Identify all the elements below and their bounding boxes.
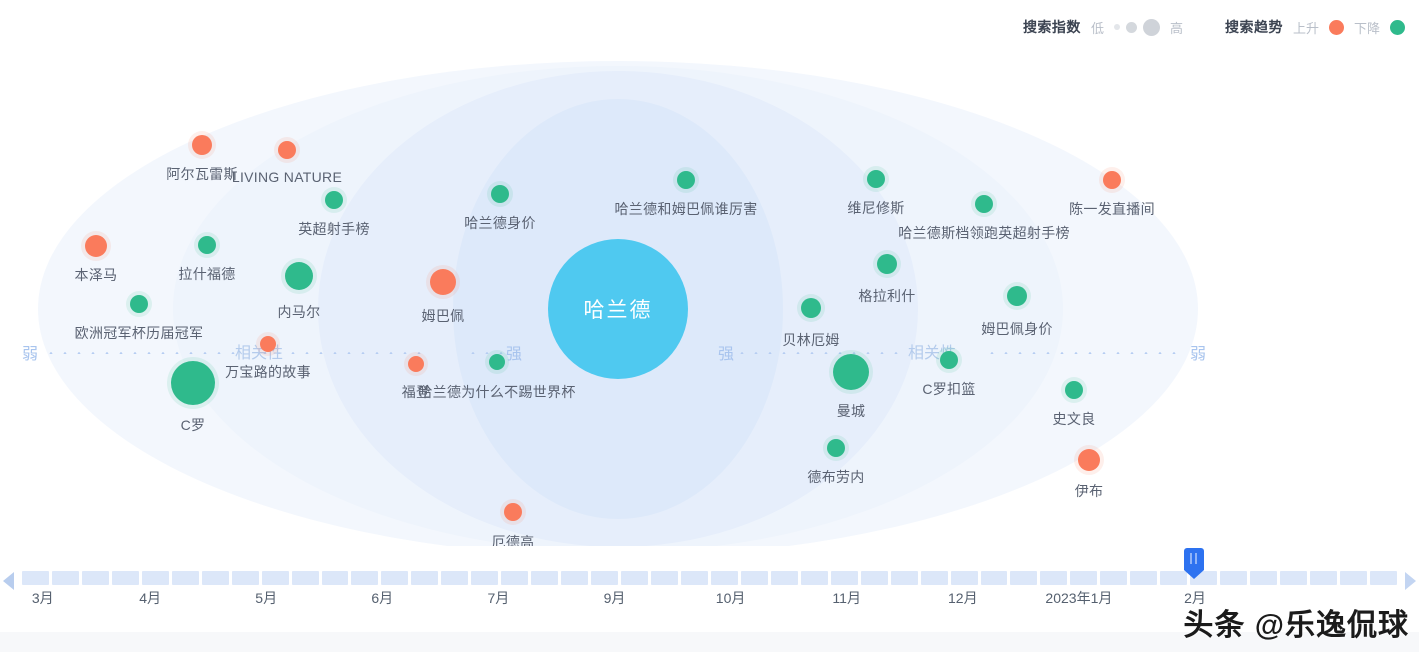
timeline-handle-grip-icon: [1184, 553, 1204, 564]
timeline-cell[interactable]: [1370, 571, 1397, 585]
legend-index-title: 搜索指数: [1023, 17, 1081, 37]
axis-line-left-b: [258, 352, 426, 354]
graph-node[interactable]: [827, 439, 845, 457]
timeline-cell[interactable]: [771, 571, 798, 585]
graph-node-label: 格拉利什: [858, 286, 915, 306]
timeline-label: 10月: [716, 588, 746, 608]
graph-node-label: 英超射手榜: [298, 219, 370, 239]
timeline-label: 6月: [371, 588, 393, 608]
graph-node[interactable]: [198, 236, 216, 254]
legend-size-dot-small: [1114, 24, 1120, 30]
timeline-cell[interactable]: [921, 571, 948, 585]
relevance-axis: 弱 相关性 强 强 相关性 弱: [0, 352, 1419, 353]
timeline-cell[interactable]: [471, 571, 498, 585]
timeline-label: 2023年1月: [1045, 588, 1112, 608]
timeline-cell[interactable]: [262, 571, 289, 585]
axis-line-right-a: [735, 352, 905, 354]
legend-trend-up-label: 上升: [1293, 18, 1319, 37]
graph-node-label: 陈一发直播间: [1069, 199, 1155, 219]
graph-node-label: 姆巴佩: [422, 306, 465, 326]
graph-node-label: 哈兰德身价: [464, 213, 536, 233]
graph-node[interactable]: [489, 354, 505, 370]
timeline-cell[interactable]: [22, 571, 49, 585]
timeline-cell[interactable]: [82, 571, 109, 585]
graph-node-label: 史文良: [1053, 409, 1096, 429]
relation-graph-plot: 弱 相关性 强 强 相关性 弱 哈兰德 阿尔瓦雷斯LIVING NATURE英超…: [0, 56, 1419, 546]
timeline-cell[interactable]: [411, 571, 438, 585]
graph-node-label: 贝林厄姆: [782, 330, 839, 350]
graph-node[interactable]: [1007, 286, 1027, 306]
axis-label-left-strong: 强: [506, 340, 522, 364]
timeline-cell[interactable]: [621, 571, 648, 585]
graph-node-label: 万宝路的故事: [225, 362, 311, 382]
timeline-handle-body: [1184, 548, 1204, 570]
graph-node[interactable]: [877, 254, 897, 274]
center-node-label: 哈兰德: [584, 294, 653, 324]
timeline-cell[interactable]: [981, 571, 1008, 585]
timeline-cell[interactable]: [531, 571, 558, 585]
timeline-cell[interactable]: [891, 571, 918, 585]
timeline-label: 12月: [948, 588, 978, 608]
graph-node[interactable]: [285, 262, 313, 290]
timeline-cell[interactable]: [1220, 571, 1247, 585]
graph-node-label: 哈兰德为什么不踢世界杯: [418, 382, 575, 402]
graph-node[interactable]: [1065, 381, 1083, 399]
timeline-cell[interactable]: [951, 571, 978, 585]
graph-node-label: 本泽马: [75, 265, 118, 285]
graph-node-label: 伊布: [1075, 481, 1104, 501]
timeline-label: 11月: [832, 588, 861, 608]
graph-node[interactable]: [677, 171, 695, 189]
timeline-cell[interactable]: [351, 571, 378, 585]
timeline-cell[interactable]: [1280, 571, 1307, 585]
graph-node-label: 维尼修斯: [847, 198, 904, 218]
graph-node[interactable]: [408, 356, 424, 372]
legend-trend-up-swatch: [1329, 20, 1344, 35]
timeline-handle[interactable]: [1184, 548, 1204, 578]
timeline-label: 4月: [139, 588, 161, 608]
graph-node[interactable]: [85, 235, 107, 257]
axis-label-left-weak: 弱: [22, 340, 38, 364]
legend-trend-down-label: 下降: [1354, 18, 1380, 37]
graph-node[interactable]: [491, 185, 509, 203]
graph-node-label: C罗扣篮: [922, 379, 975, 399]
graph-node[interactable]: [130, 295, 148, 313]
graph-node[interactable]: [1078, 449, 1100, 471]
graph-node-label: LIVING NATURE: [232, 169, 342, 185]
legend-trend-title: 搜索趋势: [1225, 17, 1283, 37]
timeline-cell[interactable]: [681, 571, 708, 585]
graph-node[interactable]: [975, 195, 993, 213]
timeline-cell[interactable]: [292, 571, 319, 585]
legend-size-scale: [1114, 19, 1160, 36]
timeline-cell[interactable]: [52, 571, 79, 585]
timeline-label: 7月: [487, 588, 509, 608]
axis-line-left-a: [44, 352, 244, 354]
legend-index-high-label: 高: [1170, 18, 1183, 37]
graph-node-label: 内马尔: [278, 302, 321, 322]
graph-node-label: 姆巴佩身价: [981, 319, 1053, 339]
graph-node-label: 哈兰德和姆巴佩谁厉害: [615, 199, 758, 219]
timeline-cell[interactable]: [232, 571, 259, 585]
graph-node[interactable]: [1103, 171, 1121, 189]
timeline-cell[interactable]: [172, 571, 199, 585]
graph-node[interactable]: [504, 503, 522, 521]
graph-node[interactable]: [192, 135, 212, 155]
axis-line-right-b: [985, 352, 1185, 354]
timeline-cell[interactable]: [142, 571, 169, 585]
chart-legend: 搜索指数 低 高 搜索趋势 上升 下降: [1023, 14, 1405, 40]
legend-size-dot-large: [1143, 19, 1160, 36]
timeline-label: 3月: [32, 588, 54, 608]
graph-node-label: 厄德高: [492, 532, 535, 546]
graph-node-label: C罗: [181, 415, 206, 435]
timeline-cell[interactable]: [112, 571, 139, 585]
timeline-cell[interactable]: [1130, 571, 1157, 585]
timeline-cell[interactable]: [1310, 571, 1337, 585]
graph-node[interactable]: [278, 141, 296, 159]
timeline-cell[interactable]: [381, 571, 408, 585]
timeline-cell[interactable]: [441, 571, 468, 585]
graph-node[interactable]: [260, 336, 276, 352]
timeline-cell[interactable]: [591, 571, 618, 585]
graph-node-label: 欧洲冠军杯历届冠军: [75, 323, 204, 343]
concentric-rings-background: [0, 56, 1419, 546]
timeline-cell[interactable]: [501, 571, 528, 585]
timeline-cell[interactable]: [1250, 571, 1277, 585]
graph-node[interactable]: [867, 170, 885, 188]
graph-node-label: 德布劳内: [807, 467, 864, 487]
timeline-label: 5月: [255, 588, 277, 608]
timeline-cell[interactable]: [801, 571, 828, 585]
graph-node[interactable]: [940, 351, 958, 369]
timeline-cell[interactable]: [741, 571, 768, 585]
timeline-cell[interactable]: [1340, 571, 1367, 585]
timeline-cell[interactable]: [561, 571, 588, 585]
timeline-cell[interactable]: [322, 571, 349, 585]
center-node-haaland[interactable]: 哈兰德: [548, 239, 688, 379]
graph-node[interactable]: [171, 361, 215, 405]
timeline-label: 9月: [604, 588, 626, 608]
timeline-cell[interactable]: [651, 571, 678, 585]
legend-size-dot-medium: [1126, 22, 1137, 33]
timeline-cell[interactable]: [202, 571, 229, 585]
legend-index-low-label: 低: [1091, 18, 1104, 37]
graph-node[interactable]: [325, 191, 343, 209]
search-graph-page: 搜索指数 低 高 搜索趋势 上升 下降 弱 相关性 强 强 相关性 弱: [0, 0, 1419, 652]
timeline-handle-tip: [1184, 570, 1204, 579]
graph-node-label: 哈兰德斯档领跑英超射手榜: [898, 223, 1070, 243]
axis-label-right-weak: 弱: [1190, 340, 1206, 364]
legend-trend-down-swatch: [1390, 20, 1405, 35]
timeline-cell[interactable]: [1010, 571, 1037, 585]
timeline-cell[interactable]: [711, 571, 738, 585]
watermark: 头条 @乐逸侃球: [1183, 600, 1409, 644]
timeline-cell[interactable]: [861, 571, 888, 585]
graph-node-label: 拉什福德: [178, 264, 235, 284]
graph-node[interactable]: [801, 298, 821, 318]
timeline-cell[interactable]: [1040, 571, 1067, 585]
graph-node[interactable]: [430, 269, 456, 295]
timeline-cell[interactable]: [1070, 571, 1097, 585]
graph-node-label: 曼城: [837, 401, 866, 421]
axis-label-right-strong: 强: [718, 340, 734, 364]
timeline-cell[interactable]: [831, 571, 858, 585]
timeline-cell[interactable]: [1100, 571, 1127, 585]
graph-node[interactable]: [833, 354, 869, 390]
graph-node-label: 阿尔瓦雷斯: [166, 164, 238, 184]
